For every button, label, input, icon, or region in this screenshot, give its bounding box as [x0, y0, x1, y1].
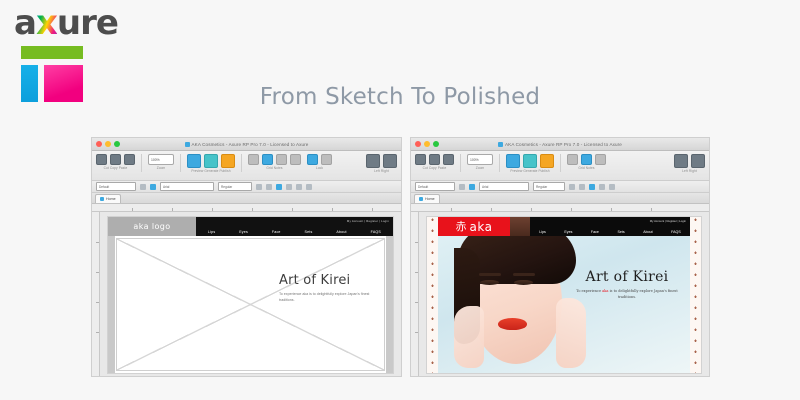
unlock-icon[interactable] — [321, 154, 332, 165]
toolbar-group-clipboard-label: Cut Copy Paste — [104, 166, 128, 170]
wireframe-page[interactable]: aka logo My Account | Register | Login L… — [107, 216, 394, 374]
toolbar-group-zoom-label: Zoom — [476, 166, 485, 170]
wireframe-left-band — [108, 236, 115, 373]
guides-icon[interactable] — [595, 154, 606, 165]
align-left-icon[interactable] — [674, 154, 688, 168]
toolbar-group-align[interactable]: Left Right — [674, 154, 705, 173]
tab-home-label: Home — [425, 197, 435, 201]
align-left-icon[interactable] — [366, 154, 380, 168]
wireframe-right-band — [386, 236, 393, 373]
generate-icon[interactable] — [204, 154, 218, 168]
copy-icon[interactable] — [429, 154, 440, 165]
toolbar-group-align[interactable]: Left Right — [366, 154, 397, 173]
text-color-icon[interactable] — [579, 184, 585, 190]
publish-icon[interactable] — [221, 154, 235, 168]
preview-icon[interactable] — [187, 154, 201, 168]
align-center-icon[interactable] — [609, 184, 615, 190]
main-toolbar[interactable]: Cut Copy Paste 100% Zoom Preview Generat… — [411, 151, 709, 181]
format-toolbar[interactable]: Default Arial Regular — [92, 181, 401, 193]
text-color-icon[interactable] — [266, 184, 272, 190]
tab-home[interactable]: Home — [414, 194, 440, 203]
toolbar-group-zoom-label: Zoom — [157, 166, 166, 170]
wireframe-logo-placeholder[interactable]: aka logo — [108, 217, 196, 236]
nav-item-eyes[interactable]: Eyes — [239, 230, 248, 234]
vertical-ruler — [92, 212, 100, 377]
style-combo[interactable]: Default — [96, 182, 136, 191]
polished-hero: Art of Kirei To experience aka is to del… — [438, 236, 690, 373]
wireframe-hero-subtitle: To experience aka is to delightfully exp… — [279, 292, 371, 303]
nav-item-eyes[interactable]: Eyes — [564, 230, 572, 234]
page-icon — [100, 197, 104, 201]
polished-content: 赤 aka My Account | Register | Login Lips… — [438, 217, 690, 373]
notes-icon[interactable] — [262, 154, 273, 165]
model-brow-right — [513, 273, 535, 276]
italic-icon[interactable] — [150, 184, 156, 190]
toolbar-group-zoom[interactable]: 100% Zoom — [467, 154, 493, 170]
toolbar-group-view[interactable]: Grid Notes — [567, 154, 606, 170]
window-title: AKA Cosmetics - Axure RP Pro 7.0 - Licen… — [92, 142, 401, 147]
wireframe-navbar[interactable]: My Account | Register | Login Lips Eyes … — [196, 217, 393, 236]
bold-icon[interactable] — [140, 184, 146, 190]
canvas-area: 赤 aka My Account | Register | Login Lips… — [411, 212, 709, 377]
underline-icon[interactable] — [569, 184, 575, 190]
window-titlebar: AKA Cosmetics - Axure RP Pro 7.0 - Licen… — [92, 138, 401, 151]
nav-item-sets[interactable]: Sets — [305, 230, 313, 234]
nav-item-lips[interactable]: Lips — [539, 230, 546, 234]
tab-home-label: Home — [106, 197, 116, 201]
generate-icon[interactable] — [523, 154, 537, 168]
toolbar-group-publish[interactable]: Preview Generate Publish — [506, 154, 554, 173]
copy-icon[interactable] — [110, 154, 121, 165]
polished-hero-title: Art of Kirei — [572, 270, 682, 285]
format-toolbar[interactable]: Default Arial Regular — [411, 181, 709, 193]
nav-item-about[interactable]: About — [643, 230, 652, 234]
page-tabbar[interactable]: Home — [92, 193, 401, 204]
toolbar-group-publish-label: Preview Generate Publish — [191, 169, 230, 173]
aka-logo[interactable]: 赤 aka — [438, 217, 510, 236]
polished-top-links[interactable]: My Account | Register | Login — [650, 219, 686, 223]
nav-item-face[interactable]: Face — [591, 230, 599, 234]
toolbar-group-align-label: Left Right — [682, 169, 697, 173]
app-window-polished: AKA Cosmetics - Axure RP Pro 7.0 - Licen… — [410, 137, 710, 377]
toolbar-group-view-label: Grid Notes — [578, 166, 594, 170]
fill-color-icon[interactable] — [276, 184, 282, 190]
toolbar-group-view[interactable]: Grid Notes — [248, 154, 301, 170]
horizontal-ruler — [411, 204, 709, 212]
nav-item-about[interactable]: About — [336, 230, 346, 234]
nav-item-faqs[interactable]: FAQS — [671, 230, 681, 234]
nav-item-lips[interactable]: Lips — [208, 230, 215, 234]
app-window-wireframe: AKA Cosmetics - Axure RP Pro 7.0 - Licen… — [91, 137, 402, 377]
bold-icon[interactable] — [459, 184, 465, 190]
wireframe-hero-title: Art of Kirei — [279, 274, 381, 288]
brand-word-pre: a — [14, 3, 36, 43]
canvas-area: aka logo My Account | Register | Login L… — [92, 212, 401, 377]
style-combo[interactable]: Default — [415, 182, 455, 191]
horizontal-ruler — [92, 204, 401, 212]
tab-home[interactable]: Home — [95, 194, 121, 203]
main-toolbar[interactable]: Cut Copy Paste 100% Zoom Preview Generat… — [92, 151, 401, 181]
model-hand-right — [556, 298, 586, 368]
model-photo — [452, 236, 584, 373]
toolbar-group-publish[interactable]: Preview Generate Publish — [187, 154, 235, 173]
paste-icon[interactable] — [124, 154, 135, 165]
border-icon[interactable] — [599, 184, 605, 190]
window-title: AKA Cosmetics - Axure RP Pro 7.0 - Licen… — [411, 142, 709, 147]
model-eye-left — [480, 280, 499, 285]
toolbar-group-lock[interactable]: Lock — [307, 154, 332, 170]
toolbar-group-clipboard[interactable]: Cut Copy Paste — [96, 154, 135, 170]
zoom-combo[interactable]: 100% — [148, 154, 174, 165]
underline-icon[interactable] — [256, 184, 262, 190]
lock-icon[interactable] — [307, 154, 318, 165]
guides-icon[interactable] — [276, 154, 287, 165]
align-right-icon[interactable] — [691, 154, 705, 168]
paste-icon[interactable] — [443, 154, 454, 165]
grid-icon[interactable] — [567, 154, 578, 165]
toolbar-divider — [560, 154, 561, 172]
font-size-combo[interactable]: Regular — [218, 182, 252, 191]
model-eye-right — [514, 280, 533, 285]
model-lips — [498, 318, 527, 330]
toolbar-group-view-label: Grid Notes — [266, 166, 282, 170]
toolbar-group-lock-label: Lock — [316, 166, 323, 170]
snap-icon[interactable] — [290, 154, 301, 165]
brand-mark-top-bar — [21, 46, 83, 59]
polished-hero-subtitle: To experience aka is to delightfully exp… — [572, 289, 682, 300]
font-size-combo[interactable]: Regular — [533, 182, 565, 191]
align-center-icon[interactable] — [296, 184, 302, 190]
wireframe-hero-text: Art of Kirei To experience aka is to del… — [279, 274, 381, 303]
nav-item-sets[interactable]: Sets — [617, 230, 624, 234]
kanji-aka-glyph: 赤 — [456, 221, 467, 232]
model-hand-left — [454, 306, 484, 368]
toolbar-group-clipboard[interactable]: Cut Copy Paste — [415, 154, 454, 170]
page-tabbar[interactable]: Home — [411, 193, 709, 204]
cut-icon[interactable] — [415, 154, 426, 165]
brand-wordmark: axure — [14, 6, 154, 40]
page-icon — [419, 197, 423, 201]
document-icon — [498, 142, 503, 147]
design-canvas[interactable]: 赤 aka My Account | Register | Login Lips… — [419, 212, 709, 377]
notes-icon[interactable] — [581, 154, 592, 165]
preview-icon[interactable] — [506, 154, 520, 168]
aka-logo-text: aka — [470, 221, 493, 233]
zoom-combo[interactable]: 100% — [467, 154, 493, 165]
wireframe-top-links[interactable]: My Account | Register | Login — [347, 219, 389, 223]
window-titlebar: AKA Cosmetics - Axure RP Pro 7.0 - Licen… — [411, 138, 709, 151]
wireframe-hero: Art of Kirei To experience aka is to del… — [108, 236, 393, 373]
toolbar-group-align-label: Left Right — [374, 169, 389, 173]
toolbar-divider — [180, 154, 181, 172]
polished-navbar[interactable]: My Account | Register | Login Lips Eyes … — [530, 217, 690, 236]
polished-hero-text: Art of Kirei To experience aka is to del… — [572, 270, 682, 300]
design-canvas[interactable]: aka logo My Account | Register | Login L… — [100, 212, 401, 377]
wireframe-nav-items[interactable]: Lips Eyes Face Sets About FAQS — [196, 230, 393, 234]
vertical-ruler — [411, 212, 419, 377]
border-icon[interactable] — [286, 184, 292, 190]
polished-frame: 赤 aka My Account | Register | Login Lips… — [427, 217, 701, 373]
fill-color-icon[interactable] — [589, 184, 595, 190]
font-combo[interactable]: Arial — [160, 182, 214, 191]
toolbar-group-zoom[interactable]: 100% Zoom — [148, 154, 174, 170]
toolbar-divider — [141, 154, 142, 172]
nav-item-faqs[interactable]: FAQS — [371, 230, 381, 234]
font-combo[interactable]: Arial — [479, 182, 529, 191]
polished-page[interactable]: 赤 aka My Account | Register | Login Lips… — [426, 216, 702, 374]
decorative-border-left — [427, 217, 438, 373]
polished-header: 赤 aka My Account | Register | Login Lips… — [438, 217, 690, 236]
toolbar-divider — [499, 154, 500, 172]
page-title: From Sketch To Polished — [0, 84, 800, 110]
italic-icon[interactable] — [469, 184, 475, 190]
toolbar-group-clipboard-label: Cut Copy Paste — [423, 166, 447, 170]
header-swatch — [510, 217, 530, 236]
grid-icon[interactable] — [248, 154, 259, 165]
wireframe-header: aka logo My Account | Register | Login L… — [108, 217, 393, 236]
polished-nav-items[interactable]: Lips Eyes Face Sets About FAQS — [530, 230, 690, 234]
decorative-border-right — [690, 217, 701, 373]
cut-icon[interactable] — [96, 154, 107, 165]
publish-icon[interactable] — [540, 154, 554, 168]
document-icon — [185, 142, 190, 147]
toolbar-group-publish-label: Preview Generate Publish — [510, 169, 549, 173]
model-brow-left — [479, 273, 501, 276]
wireframe-image-placeholder[interactable] — [116, 238, 385, 371]
brand-word-post: ure — [57, 3, 118, 43]
brand-word-x: x — [36, 3, 57, 43]
toolbar-divider — [460, 154, 461, 172]
nav-item-face[interactable]: Face — [272, 230, 281, 234]
toolbar-divider — [241, 154, 242, 172]
distribute-icon[interactable] — [306, 184, 312, 190]
align-right-icon[interactable] — [383, 154, 397, 168]
